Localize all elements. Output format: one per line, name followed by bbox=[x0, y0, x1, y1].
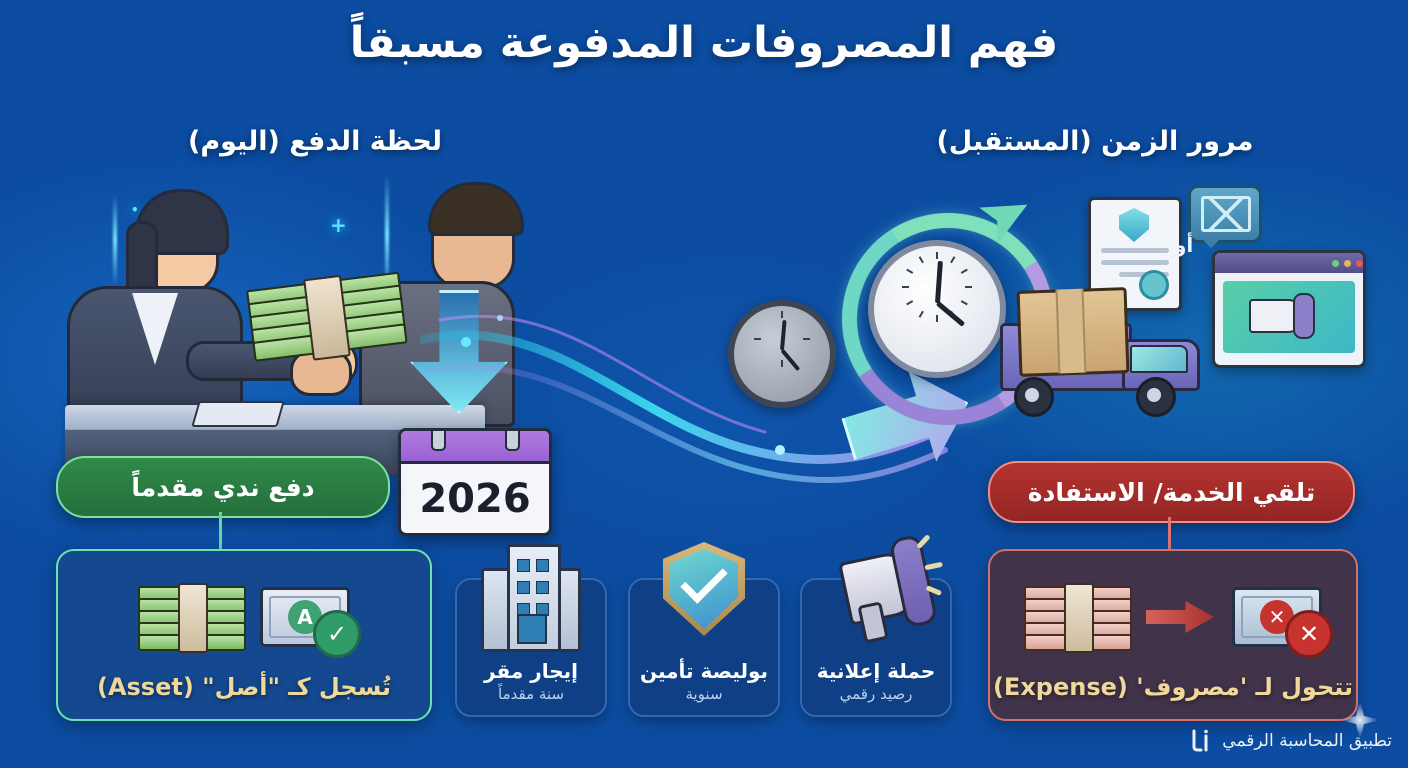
document-seal-icon bbox=[1139, 270, 1169, 300]
watermark: تطبيق المحاسبة الرقمي bbox=[1188, 728, 1392, 754]
section-header-right: مرور الزمن (المستقبل) bbox=[920, 126, 1270, 157]
example-card-advertising-subtitle: رصيد رقمي bbox=[840, 685, 913, 703]
expense-money-pile-icon bbox=[1024, 586, 1128, 648]
calendar-icon: 2026 bbox=[398, 428, 552, 536]
asset-bill-icon: A ✓ bbox=[260, 587, 350, 647]
browser-titlebar bbox=[1215, 253, 1363, 273]
watermark-label: تطبيق المحاسبة الرقمي bbox=[1222, 731, 1392, 751]
customer-hair bbox=[428, 182, 524, 236]
page-title: فهم المصروفات المدفوعة مسبقاً bbox=[0, 18, 1408, 68]
desk-tablet bbox=[191, 401, 284, 427]
example-card-advertising[interactable]: حملة إعلانية رصيد رقمي bbox=[800, 578, 952, 717]
asset-check-icon: ✓ bbox=[313, 610, 361, 658]
sparkle-icon: + bbox=[330, 213, 347, 237]
example-card-rent-title: إيجار مقر bbox=[484, 660, 578, 683]
package-box-icon bbox=[1017, 287, 1130, 377]
cashier-head bbox=[139, 196, 219, 294]
document-shield-icon bbox=[1119, 208, 1149, 242]
cashier-person bbox=[115, 196, 243, 427]
clock-icon-small bbox=[728, 300, 836, 408]
ad-browser-window-icon bbox=[1212, 250, 1366, 368]
asset-money-pile-icon bbox=[138, 586, 242, 648]
message-bubble-icon bbox=[1188, 185, 1262, 243]
expense-cross-icon: ✕ bbox=[1285, 610, 1333, 658]
office-building-icon bbox=[479, 542, 583, 646]
asset-card-caption: تُسجل كـ "أصل" (Asset) bbox=[97, 673, 391, 701]
package-tape bbox=[1056, 289, 1087, 374]
delivery-truck-icon bbox=[1000, 305, 1200, 415]
example-card-insurance-title: بوليصة تأمين bbox=[640, 660, 768, 683]
asset-icon-row: A ✓ bbox=[138, 569, 350, 665]
example-card-insurance[interactable]: بوليصة تأمين سنوية bbox=[628, 578, 780, 717]
or-label: أو bbox=[1174, 233, 1193, 257]
example-card-insurance-subtitle: سنوية bbox=[685, 685, 722, 703]
browser-ad-content bbox=[1223, 281, 1355, 353]
service-received-badge[interactable]: تلقي الخدمة/ الاستفادة bbox=[988, 461, 1355, 523]
asset-result-card[interactable]: A ✓ تُسجل كـ "أصل" (Asset) bbox=[56, 549, 432, 721]
example-card-rent-subtitle: سنة مقدماً bbox=[498, 685, 564, 703]
cashier-shirt bbox=[132, 293, 178, 365]
expense-icon-row: ✕ ✕ bbox=[1024, 569, 1322, 665]
truck-wheel bbox=[1014, 377, 1054, 417]
insurance-shield-icon bbox=[663, 542, 745, 636]
calendar-year-label: 2026 bbox=[401, 464, 549, 534]
calendar-ring bbox=[431, 428, 446, 451]
example-card-rent[interactable]: إيجار مقر سنة مقدماً bbox=[455, 578, 607, 717]
service-received-illustration: أو bbox=[700, 175, 1370, 455]
cash-payment-badge[interactable]: دفع ندي مقدماً bbox=[56, 456, 390, 518]
megaphone-icon bbox=[820, 542, 932, 634]
customer-head bbox=[431, 191, 515, 289]
clock-icon-large bbox=[868, 240, 1006, 378]
expense-card-caption: تتحول لـ 'مصروف' (Expense) bbox=[993, 673, 1353, 701]
app-logo-icon bbox=[1188, 728, 1214, 754]
infographic-stage: فهم المصروفات المدفوعة مسبقاً لحظة الدفع… bbox=[0, 0, 1408, 768]
section-header-left: لحظة الدفع (اليوم) bbox=[155, 126, 475, 157]
expense-bill-icon: ✕ ✕ bbox=[1232, 587, 1322, 647]
truck-window bbox=[1130, 345, 1188, 373]
calendar-header bbox=[401, 431, 549, 464]
badge-connector-right bbox=[1168, 517, 1171, 549]
cash-payment-badge-label: دفع ندي مقدماً bbox=[131, 473, 314, 502]
envelope-icon bbox=[1201, 196, 1251, 232]
service-received-badge-label: تلقي الخدمة/ الاستفادة bbox=[1028, 478, 1315, 507]
transform-arrow-icon bbox=[1146, 601, 1214, 633]
truck-wheel bbox=[1136, 377, 1176, 417]
expense-result-card[interactable]: ✕ ✕ تتحول لـ 'مصروف' (Expense) bbox=[988, 549, 1358, 721]
example-card-advertising-title: حملة إعلانية bbox=[817, 660, 936, 683]
badge-connector-left bbox=[219, 512, 222, 550]
calendar-ring bbox=[505, 428, 520, 451]
